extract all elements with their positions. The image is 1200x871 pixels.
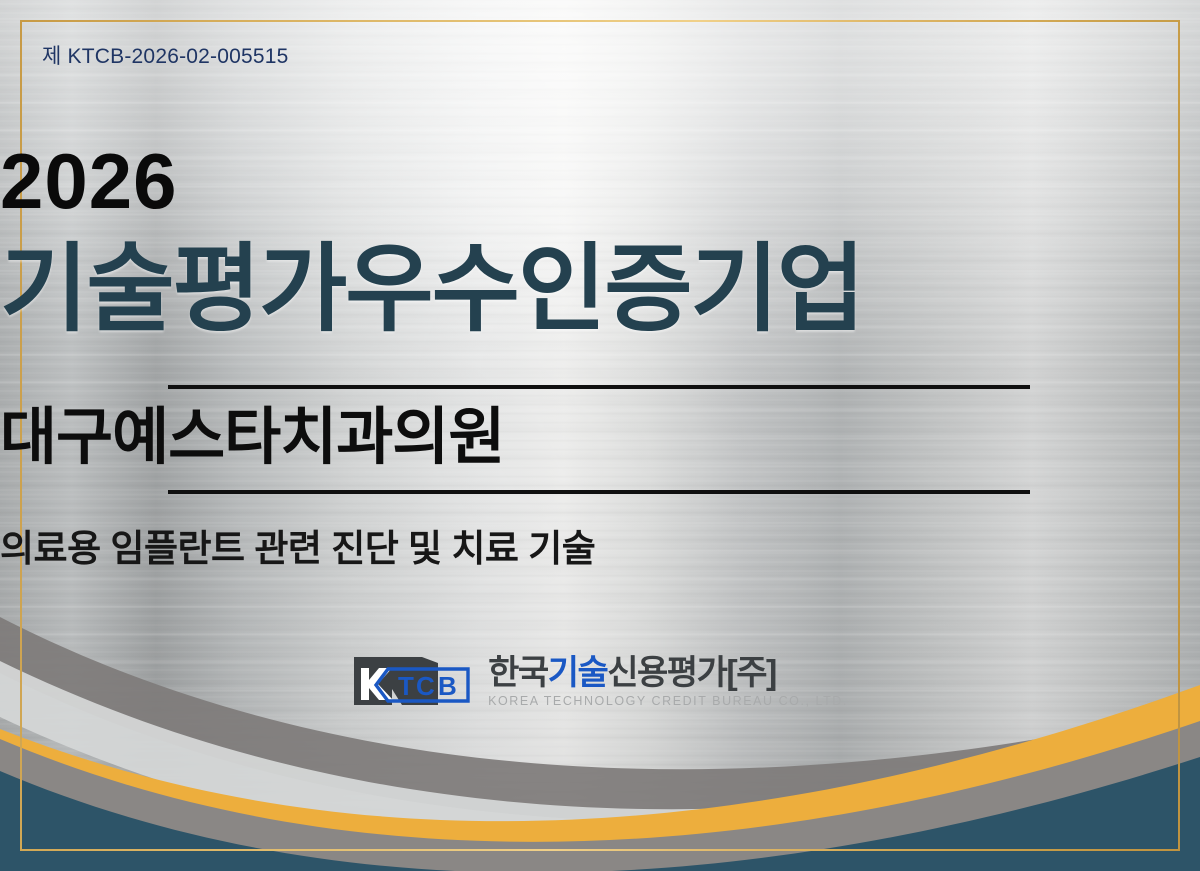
organization-name: 대구예스타치과의원 bbox=[0, 404, 1200, 472]
divider-rule-top bbox=[168, 385, 1030, 389]
issuer-name-korean: 한국기술신용평가[주] bbox=[488, 656, 776, 690]
svg-text:T: T bbox=[398, 671, 414, 701]
document-number: 제 KTCB-2026-02-005515 bbox=[42, 40, 289, 70]
issuer-name-block: 한국기술신용평가[주] KOREA TECHNOLOGY CREDIT BURE… bbox=[488, 655, 848, 708]
svg-text:B: B bbox=[438, 671, 457, 701]
certificate-headline: 기술평가우수인증기업 bbox=[0, 238, 1200, 342]
issuer-name-korean-part1: 한국 bbox=[488, 654, 548, 692]
wave-decoration bbox=[0, 611, 1200, 871]
issuer-name-korean-part2: 신용평가[주] bbox=[607, 654, 776, 692]
issuer-logo-lockup: T C B 한국기술신용평가[주] KOREA TECHNOLOGY CREDI… bbox=[0, 655, 1200, 708]
certificate-year: 2026 bbox=[0, 142, 1200, 220]
certificate-plate: 제 KTCB-2026-02-005515 2026 기술평가우수인증기업 대구… bbox=[0, 0, 1200, 871]
technology-description: 의료용 임플란트 관련 진단 및 치료 기술 bbox=[0, 527, 1200, 571]
issuer-name-english: KOREA TECHNOLOGY CREDIT BUREAU CO., LTD. bbox=[488, 694, 848, 708]
issuer-name-korean-highlight: 기술 bbox=[548, 654, 608, 692]
ktcb-logo-icon: T C B bbox=[352, 655, 474, 707]
svg-text:C: C bbox=[416, 671, 435, 701]
divider-rule-bottom bbox=[168, 490, 1030, 494]
